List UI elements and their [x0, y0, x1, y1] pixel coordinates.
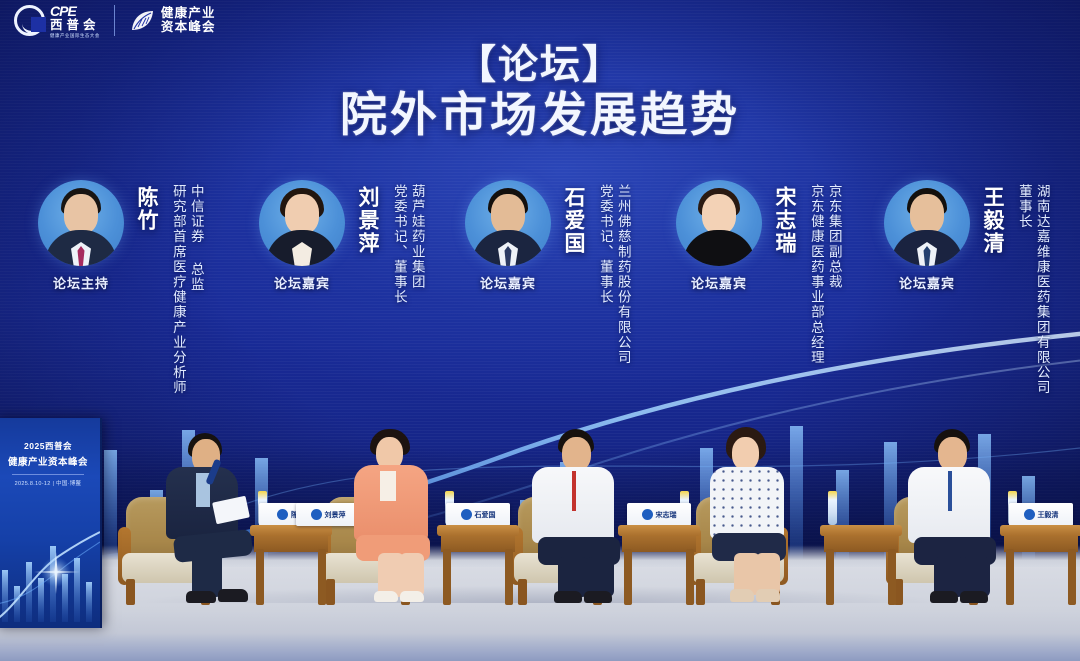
speaker-title-1: 党委书记、董事长 葫芦娃药业集团 [388, 184, 424, 305]
seated-panel-row: 陈竹 刘景萍 石爱国 宋志瑞 [0, 375, 1080, 605]
side-table-3 [820, 525, 902, 605]
conference-stage-screenshot: CPE 西普会 健康产业国际生态大会 健康产业 资本峰会 【论坛】 院外市场发展… [0, 0, 1080, 661]
speaker-title-1-col0: 党委书记、董事长 [391, 184, 406, 305]
speaker-role-2: 论坛嘉宾 [461, 273, 555, 292]
speaker-title-0: 研究部首席医疗健康产业分析师 中信证券 总监 [167, 184, 203, 395]
cpe-sub-text: 健康产业国际生态大会 [50, 34, 100, 38]
cpe-ring-icon-card-4 [1024, 509, 1035, 520]
speaker-name-1: 刘景萍 [353, 186, 383, 255]
summit-line2: 资本峰会 [161, 21, 216, 35]
logo-divider [114, 5, 115, 36]
cpe-ring-icon-card-1 [311, 509, 322, 520]
speaker-photo-0 [38, 180, 124, 266]
speaker-name-2: 石爱国 [559, 186, 589, 255]
seated-person-1 [344, 425, 454, 605]
name-card-text-3: 宋志瑞 [656, 510, 677, 520]
speaker-name-4: 王毅清 [978, 186, 1008, 255]
speaker-role-4: 论坛嘉宾 [880, 273, 974, 292]
speaker-title-3-col1: 京东集团副总裁 [826, 184, 841, 365]
speaker-photo-1 [259, 180, 345, 266]
cpe-ring-icon-card-0 [277, 509, 288, 520]
name-card-2: 石爱国 [446, 503, 510, 526]
lanyard-4 [948, 471, 952, 511]
speaker-title-2-col1: 兰州佛慈制药股份有限公司 [615, 184, 630, 365]
name-card-text-2: 石爱国 [475, 510, 496, 520]
speaker-title-3-col0: 京东健康医药事业部总经理 [808, 184, 823, 365]
rollup-line1: 2025西普会 [2, 440, 94, 452]
speaker-title-3: 京东健康医药事业部总经理 京东集团副总裁 [805, 184, 841, 365]
seated-person-4 [900, 425, 1020, 605]
seated-person-0 [152, 425, 272, 605]
rollup-line3: 2025.8.10-12 | 中国·博鳌 [2, 479, 94, 487]
speaker-role-3: 论坛嘉宾 [672, 273, 766, 292]
speaker-card-3: 论坛嘉宾 宋志瑞 京东健康医药事业部总经理 京东集团副总裁 [672, 180, 841, 365]
speaker-photo-4 [884, 180, 970, 266]
summit-logo: 健康产业 资本峰会 [129, 7, 216, 34]
name-card-text-4: 王毅清 [1038, 510, 1059, 520]
rollup-banner: 2025西普会 健康产业资本峰会 2025.8.10-12 | 中国·博鳌 [0, 418, 102, 628]
speaker-title-0-col0: 研究部首席医疗健康产业分析师 [170, 184, 185, 395]
rollup-candlestick-graphic [0, 508, 100, 628]
forum-title-line2: 院外市场发展趋势 [0, 88, 1080, 143]
speaker-role-0: 论坛主持 [34, 273, 128, 292]
water-bottle-3 [828, 491, 837, 525]
speaker-title-2: 党委书记、董事长 兰州佛慈制药股份有限公司 [594, 184, 630, 365]
speaker-role-1: 论坛嘉宾 [255, 273, 349, 292]
forum-title-line1: 【论坛】 [0, 44, 1080, 86]
speaker-photo-2 [465, 180, 551, 266]
summit-line1: 健康产业 [161, 7, 216, 21]
speaker-title-4: 董事长 湖南达嘉维康医药集团有限公司 [1013, 184, 1049, 395]
cpe-ring-icon [14, 5, 45, 36]
header-logo-bar: CPE 西普会 健康产业国际生态大会 健康产业 资本峰会 [14, 4, 216, 38]
speaker-title-4-col1: 湖南达嘉维康医药集团有限公司 [1034, 184, 1049, 395]
seated-person-2 [524, 425, 644, 605]
speaker-photo-3 [676, 180, 762, 266]
speaker-card-0: 论坛主持 陈竹 研究部首席医疗健康产业分析师 中信证券 总监 [34, 180, 203, 395]
cpe-logo: CPE 西普会 健康产业国际生态大会 [14, 4, 100, 38]
speaker-name-0: 陈竹 [132, 186, 162, 232]
name-card-text-1: 刘景萍 [325, 510, 346, 520]
speaker-title-2-col0: 党委书记、董事长 [597, 184, 612, 365]
speaker-title-0-col1: 中信证券 总监 [188, 184, 203, 395]
cpe-latin-text: CPE [50, 4, 100, 18]
speaker-card-2: 论坛嘉宾 石爱国 党委书记、董事长 兰州佛慈制药股份有限公司 [461, 180, 630, 365]
speaker-card-1: 论坛嘉宾 刘景萍 党委书记、董事长 葫芦娃药业集团 [255, 180, 424, 305]
rollup-divider [12, 474, 84, 475]
speaker-card-4: 论坛嘉宾 王毅清 董事长 湖南达嘉维康医药集团有限公司 [880, 180, 1049, 395]
cpe-cn-text: 西普会 [50, 19, 100, 32]
leaf-icon [129, 8, 155, 34]
cpe-ring-icon-card-2 [461, 509, 472, 520]
speaker-title-4-col0: 董事长 [1016, 184, 1031, 395]
seated-person-3 [700, 425, 810, 605]
speaker-title-1-col1: 葫芦娃药业集团 [409, 184, 424, 305]
rollup-line2: 健康产业资本峰会 [2, 454, 94, 468]
speaker-name-3: 宋志瑞 [770, 186, 800, 255]
forum-title-block: 【论坛】 院外市场发展趋势 [0, 44, 1080, 143]
lanyard-2 [572, 471, 576, 511]
